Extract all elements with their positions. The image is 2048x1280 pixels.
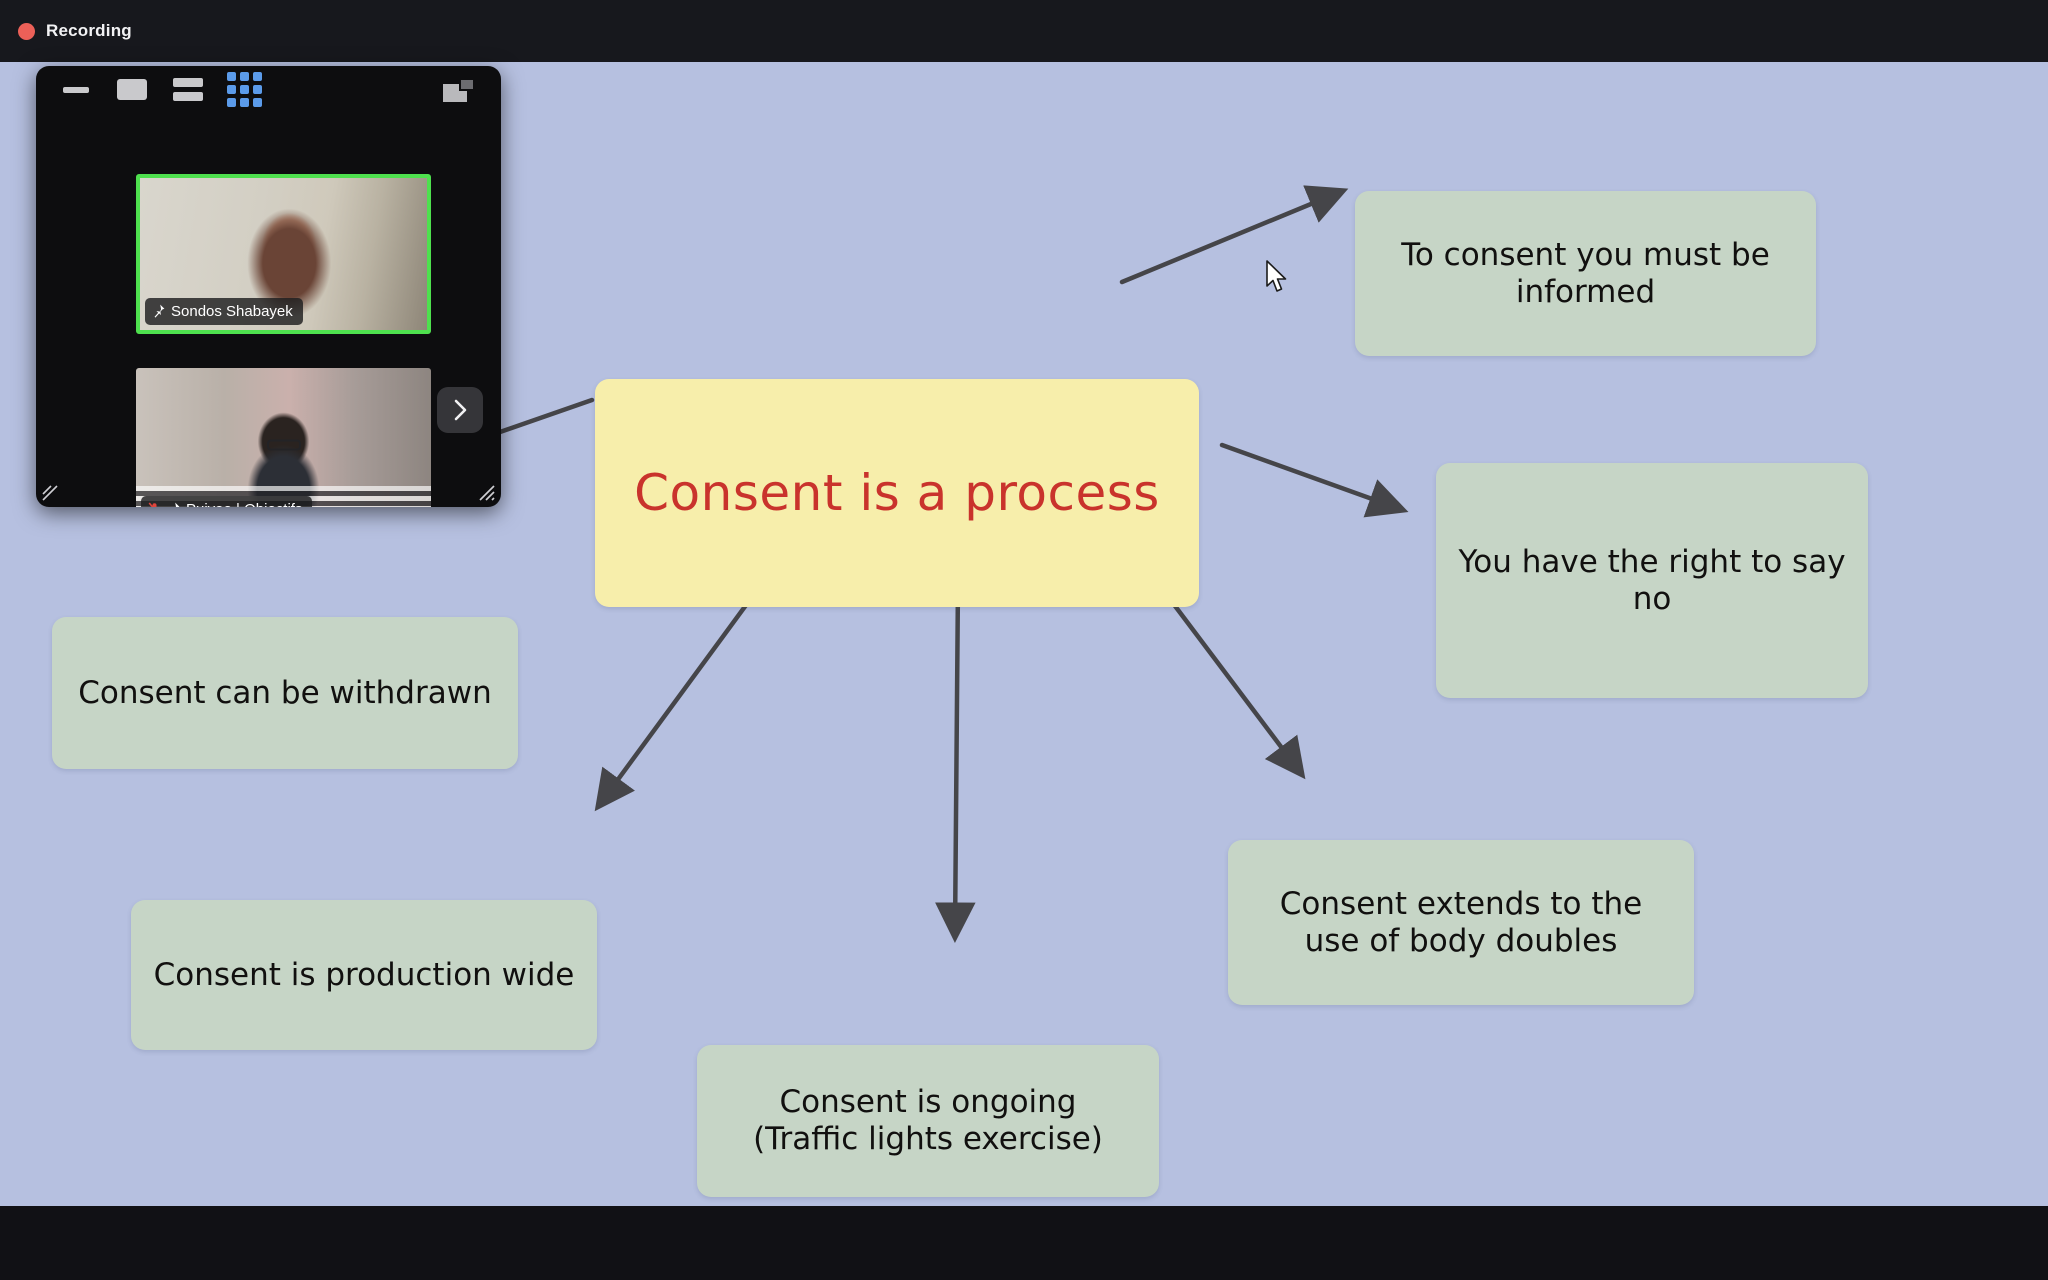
pin-icon	[152, 304, 165, 319]
recording-label: Recording	[46, 21, 132, 41]
resize-grip-left-icon[interactable]	[41, 482, 61, 502]
mindmap-node-body-doubles-label: Consent extends to the use of body doubl…	[1228, 886, 1694, 959]
mic-muted-icon	[148, 502, 161, 507]
participant-name-bar: Puiyee | Objectifs	[141, 496, 312, 507]
mindmap-node-root-label: Consent is a process	[595, 463, 1199, 524]
grid-icon[interactable]	[224, 66, 264, 113]
mindmap-node-production-wide-label: Consent is production wide	[131, 957, 597, 994]
participant-name: Puiyee | Objectifs	[186, 501, 302, 507]
minimize-icon[interactable]	[56, 66, 96, 113]
participant-tile[interactable]: Sondos Shabayek	[136, 174, 431, 334]
participant-video	[136, 368, 431, 507]
mindmap-node-sayno-label: You have the right to say no	[1436, 544, 1868, 617]
chevron-right-icon[interactable]	[437, 387, 483, 433]
mindmap-node-informed[interactable]: To consent you must be informed	[1355, 191, 1816, 356]
mindmap-node-ongoing-label: Consent is ongoing (Traffic lights exerc…	[697, 1084, 1159, 1157]
mindmap-node-withdrawn-label: Consent can be withdrawn	[52, 675, 518, 712]
view-controls-bar	[36, 66, 501, 113]
mindmap-node-withdrawn[interactable]: Consent can be withdrawn	[52, 617, 518, 769]
edge-root-withdrawn	[500, 400, 592, 432]
edge-root-informed	[1122, 192, 1340, 282]
recording-indicator-dot	[18, 23, 35, 40]
mindmap-node-body-doubles[interactable]: Consent extends to the use of body doubl…	[1228, 840, 1694, 1005]
mindmap-node-root[interactable]: Consent is a process	[595, 379, 1199, 607]
picture-in-picture-icon[interactable]	[439, 66, 479, 113]
edge-root-doubles	[1157, 582, 1300, 772]
participant-name-bar: Sondos Shabayek	[145, 298, 303, 325]
edge-root-sayno	[1222, 445, 1400, 509]
speaker-view-icon[interactable]	[112, 66, 152, 113]
recording-bar: Recording	[0, 0, 2048, 62]
app-window: Recording	[0, 0, 2048, 1280]
edge-root-prodwide	[600, 582, 763, 804]
edge-root-ongoing	[955, 582, 958, 934]
mindmap-node-informed-label: To consent you must be informed	[1355, 237, 1816, 310]
mindmap-node-production-wide[interactable]: Consent is production wide	[131, 900, 597, 1050]
mindmap-node-ongoing-line2: (Traffic lights exercise)	[753, 1121, 1103, 1157]
bottom-bar	[0, 1206, 2048, 1280]
side-by-side-view-icon[interactable]	[168, 66, 208, 113]
mouse-pointer-icon	[1265, 260, 1291, 294]
mindmap-node-ongoing-line1: Consent is ongoing	[780, 1084, 1077, 1120]
resize-grip-icon[interactable]	[472, 478, 496, 502]
mindmap-node-sayno[interactable]: You have the right to say no	[1436, 463, 1868, 698]
participant-name: Sondos Shabayek	[171, 303, 293, 320]
pin-icon	[167, 502, 180, 507]
participant-tile[interactable]: Puiyee | Objectifs	[136, 368, 431, 507]
video-conference-panel[interactable]: Sondos Shabayek Puiyee | Objectifs	[36, 66, 501, 507]
mindmap-node-ongoing[interactable]: Consent is ongoing (Traffic lights exerc…	[697, 1045, 1159, 1197]
